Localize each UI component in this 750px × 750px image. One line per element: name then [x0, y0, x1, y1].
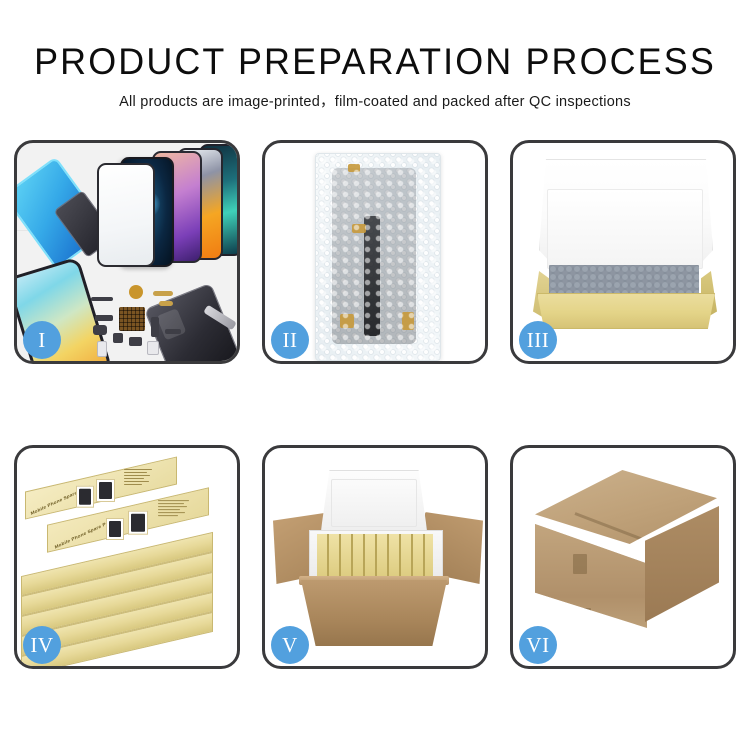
- box-spec-lines-1: [124, 469, 156, 487]
- part-module-icon: [93, 325, 107, 335]
- step-1-panel: I: [14, 140, 240, 364]
- carton-tape-tab-top-icon: [573, 554, 587, 574]
- tape-bl-icon: [340, 314, 354, 328]
- spare-parts-group: [89, 285, 199, 364]
- step-6-panel: VI: [510, 445, 736, 669]
- carton-body-icon: [301, 580, 447, 646]
- part-chip-icon: [147, 341, 159, 355]
- part-bracket-icon: [151, 317, 159, 337]
- step-2-panel: II: [262, 140, 488, 364]
- page-title: PRODUCT PREPARATION PROCESS: [11, 40, 739, 84]
- part-strip-icon: [91, 297, 113, 301]
- part-square-icon: [113, 333, 123, 343]
- step-5-panel: V: [262, 445, 488, 669]
- step-badge-3: III: [519, 321, 557, 359]
- step-badge-6: VI: [519, 626, 557, 664]
- process-step-5[interactable]: V: [262, 445, 488, 669]
- step-badge-5: V: [271, 626, 309, 664]
- part-flex2-icon: [159, 301, 173, 306]
- part-sim-tray-icon: [97, 341, 107, 357]
- process-step-6[interactable]: VI: [510, 445, 736, 669]
- bubble-fill-icon: [549, 265, 699, 297]
- step-3-panel: III: [510, 140, 736, 364]
- page-subtitle: All products are image-printed，film-coat…: [0, 93, 750, 111]
- header: PRODUCT PREPARATION PROCESS All products…: [0, 40, 750, 111]
- step-badge-2: II: [271, 321, 309, 359]
- screen-glass-icon: [97, 163, 155, 267]
- kraft-box-front-icon: [537, 293, 715, 329]
- tape-br-icon: [402, 312, 414, 330]
- process-step-3[interactable]: III: [510, 140, 736, 364]
- part-coin-icon: [129, 285, 143, 299]
- poster-root: PRODUCT PREPARATION PROCESS All products…: [0, 0, 750, 750]
- foam-lid-icon: [321, 470, 427, 538]
- tape-mid-icon: [352, 224, 366, 233]
- process-step-1[interactable]: I: [14, 140, 240, 364]
- part-flex-icon: [153, 291, 173, 296]
- box-thumb-2b: [128, 511, 148, 535]
- step-badge-1: I: [23, 321, 61, 359]
- process-grid: I II: [14, 140, 736, 680]
- process-step-4[interactable]: Mobile Phone Spare Parts Mobile Phone Sp…: [14, 445, 240, 669]
- foam-sheet-icon: [547, 189, 703, 269]
- part-chip-grid-icon: [119, 307, 145, 331]
- flex-cable-icon: [364, 216, 380, 336]
- box-thumb-1a: [76, 486, 94, 508]
- box-spec-lines-2: [158, 500, 192, 518]
- part-camera-icon: [129, 337, 142, 346]
- bubble-bag-icon: [315, 153, 441, 361]
- step-badge-4: IV: [23, 626, 61, 664]
- process-step-2[interactable]: II: [262, 140, 488, 364]
- box-thumb-1b: [96, 479, 115, 502]
- step-4-panel: Mobile Phone Spare Parts Mobile Phone Sp…: [14, 445, 240, 669]
- part-connector-icon: [95, 315, 113, 321]
- box-thumb-2a: [106, 518, 124, 540]
- inner-boxes-icon: [317, 534, 433, 578]
- part-cable-icon: [165, 329, 181, 334]
- carton-tape-tab-bottom-icon: [577, 608, 591, 626]
- tape-top-icon: [348, 164, 360, 172]
